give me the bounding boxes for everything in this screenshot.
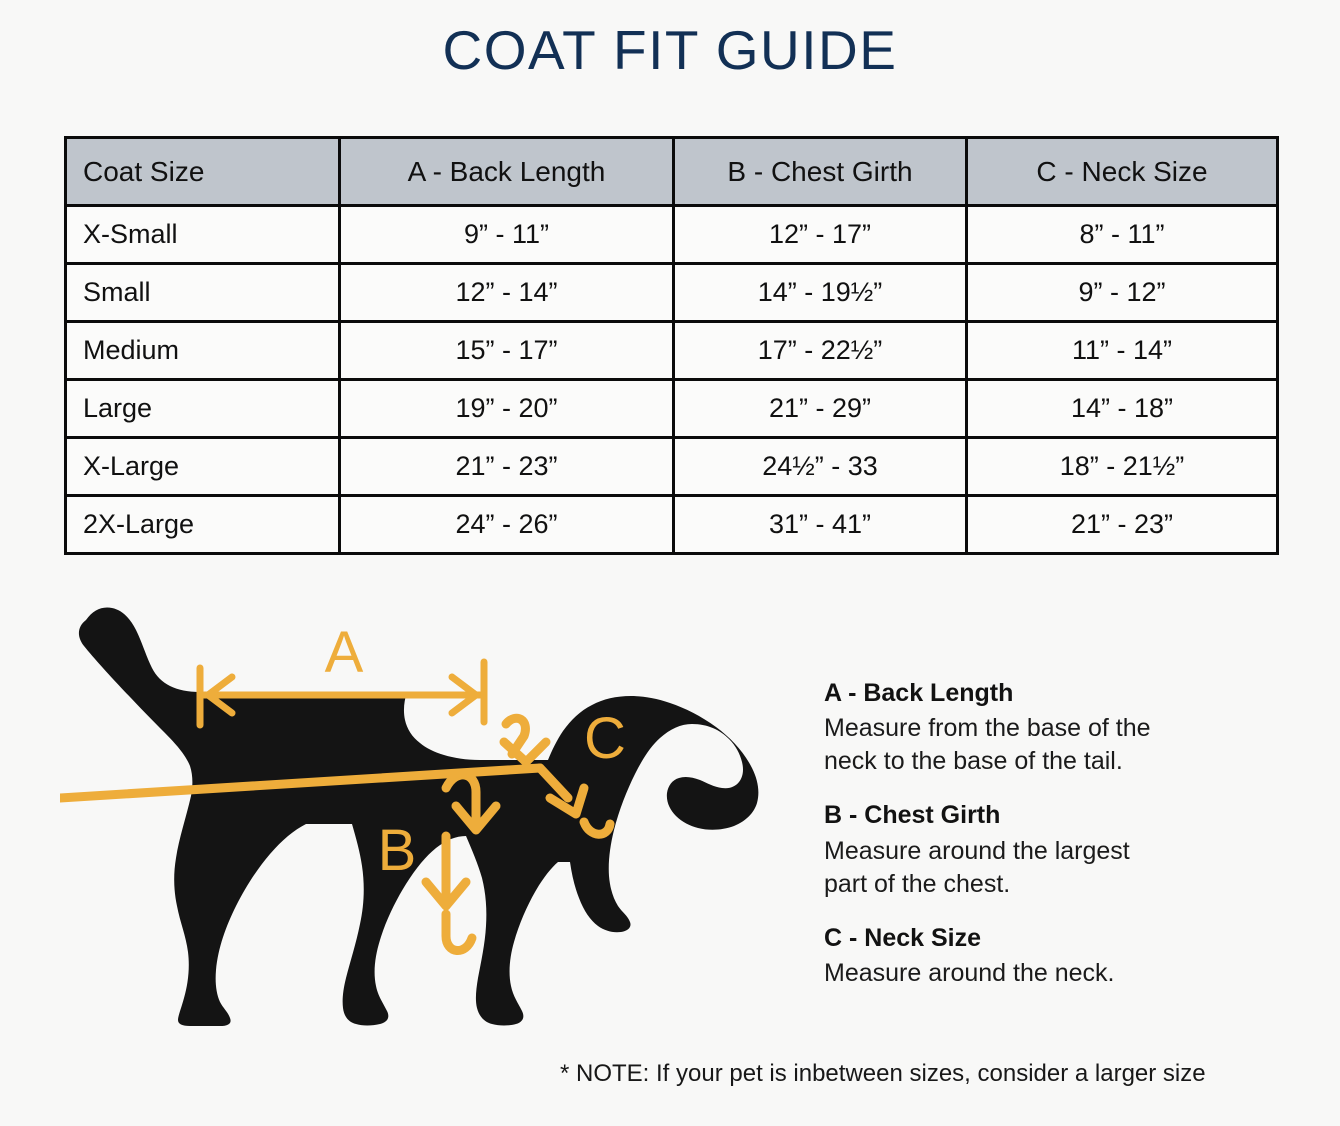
legend-description-line: Measure from the base of the [824, 712, 1254, 745]
page-title: COAT FIT GUIDE [0, 20, 1340, 81]
legend-heading: B - Chest Girth [824, 800, 1254, 831]
table-row: Large 19” - 20” 21” - 29” 14” - 18” [66, 380, 1278, 438]
legend-item-neck-size: C - Neck Size Measure around the neck. [824, 923, 1254, 990]
table-row: X-Small 9” - 11” 12” - 17” 8” - 11” [66, 206, 1278, 264]
dog-measurement-diagram: A B C [60, 600, 760, 1040]
cell-back-length: 12” - 14” [340, 264, 674, 322]
coat-size-table: Coat Size A - Back Length B - Chest Girt… [64, 136, 1279, 555]
cell-back-length: 24” - 26” [340, 496, 674, 554]
cell-coat-size: X-Small [66, 206, 340, 264]
cell-coat-size: Small [66, 264, 340, 322]
table-header-row: Coat Size A - Back Length B - Chest Girt… [66, 138, 1278, 206]
column-header-back-length: A - Back Length [340, 138, 674, 206]
legend-item-back-length: A - Back Length Measure from the base of… [824, 678, 1254, 778]
table-row: Small 12” - 14” 14” - 19½” 9” - 12” [66, 264, 1278, 322]
sizing-note: * NOTE: If your pet is inbetween sizes, … [560, 1058, 1300, 1089]
table-row: Medium 15” - 17” 17” - 22½” 11” - 14” [66, 322, 1278, 380]
measure-label-a: A [325, 620, 364, 685]
cell-back-length: 15” - 17” [340, 322, 674, 380]
cell-neck-size: 21” - 23” [967, 496, 1278, 554]
measurement-legend: A - Back Length Measure from the base of… [824, 678, 1254, 990]
size-table-container: Coat Size A - Back Length B - Chest Girt… [64, 136, 1276, 555]
column-header-coat-size: Coat Size [66, 138, 340, 206]
cell-neck-size: 9” - 12” [967, 264, 1278, 322]
legend-description-line: Measure around the largest [824, 835, 1254, 868]
cell-neck-size: 14” - 18” [967, 380, 1278, 438]
cell-back-length: 19” - 20” [340, 380, 674, 438]
cell-chest-girth: 17” - 22½” [674, 322, 967, 380]
legend-description-line: part of the chest. [824, 868, 1254, 901]
cell-chest-girth: 12” - 17” [674, 206, 967, 264]
cell-back-length: 9” - 11” [340, 206, 674, 264]
table-row: X-Large 21” - 23” 24½” - 33 18” - 21½” [66, 438, 1278, 496]
column-header-chest-girth: B - Chest Girth [674, 138, 967, 206]
cell-chest-girth: 21” - 29” [674, 380, 967, 438]
table-row: 2X-Large 24” - 26” 31” - 41” 21” - 23” [66, 496, 1278, 554]
cell-coat-size: X-Large [66, 438, 340, 496]
cell-neck-size: 18” - 21½” [967, 438, 1278, 496]
cell-neck-size: 8” - 11” [967, 206, 1278, 264]
cell-chest-girth: 31” - 41” [674, 496, 967, 554]
cell-chest-girth: 14” - 19½” [674, 264, 967, 322]
measure-label-b: B [378, 818, 417, 883]
legend-item-chest-girth: B - Chest Girth Measure around the large… [824, 800, 1254, 900]
legend-heading: C - Neck Size [824, 923, 1254, 954]
cell-coat-size: Medium [66, 322, 340, 380]
cell-coat-size: 2X-Large [66, 496, 340, 554]
cell-coat-size: Large [66, 380, 340, 438]
column-header-neck-size: C - Neck Size [967, 138, 1278, 206]
cell-chest-girth: 24½” - 33 [674, 438, 967, 496]
cell-neck-size: 11” - 14” [967, 322, 1278, 380]
legend-heading: A - Back Length [824, 678, 1254, 709]
dog-silhouette-icon [79, 608, 758, 1027]
legend-description-line: neck to the base of the tail. [824, 745, 1254, 778]
cell-back-length: 21” - 23” [340, 438, 674, 496]
legend-description-line: Measure around the neck. [824, 957, 1254, 990]
measure-label-c: C [584, 706, 626, 771]
